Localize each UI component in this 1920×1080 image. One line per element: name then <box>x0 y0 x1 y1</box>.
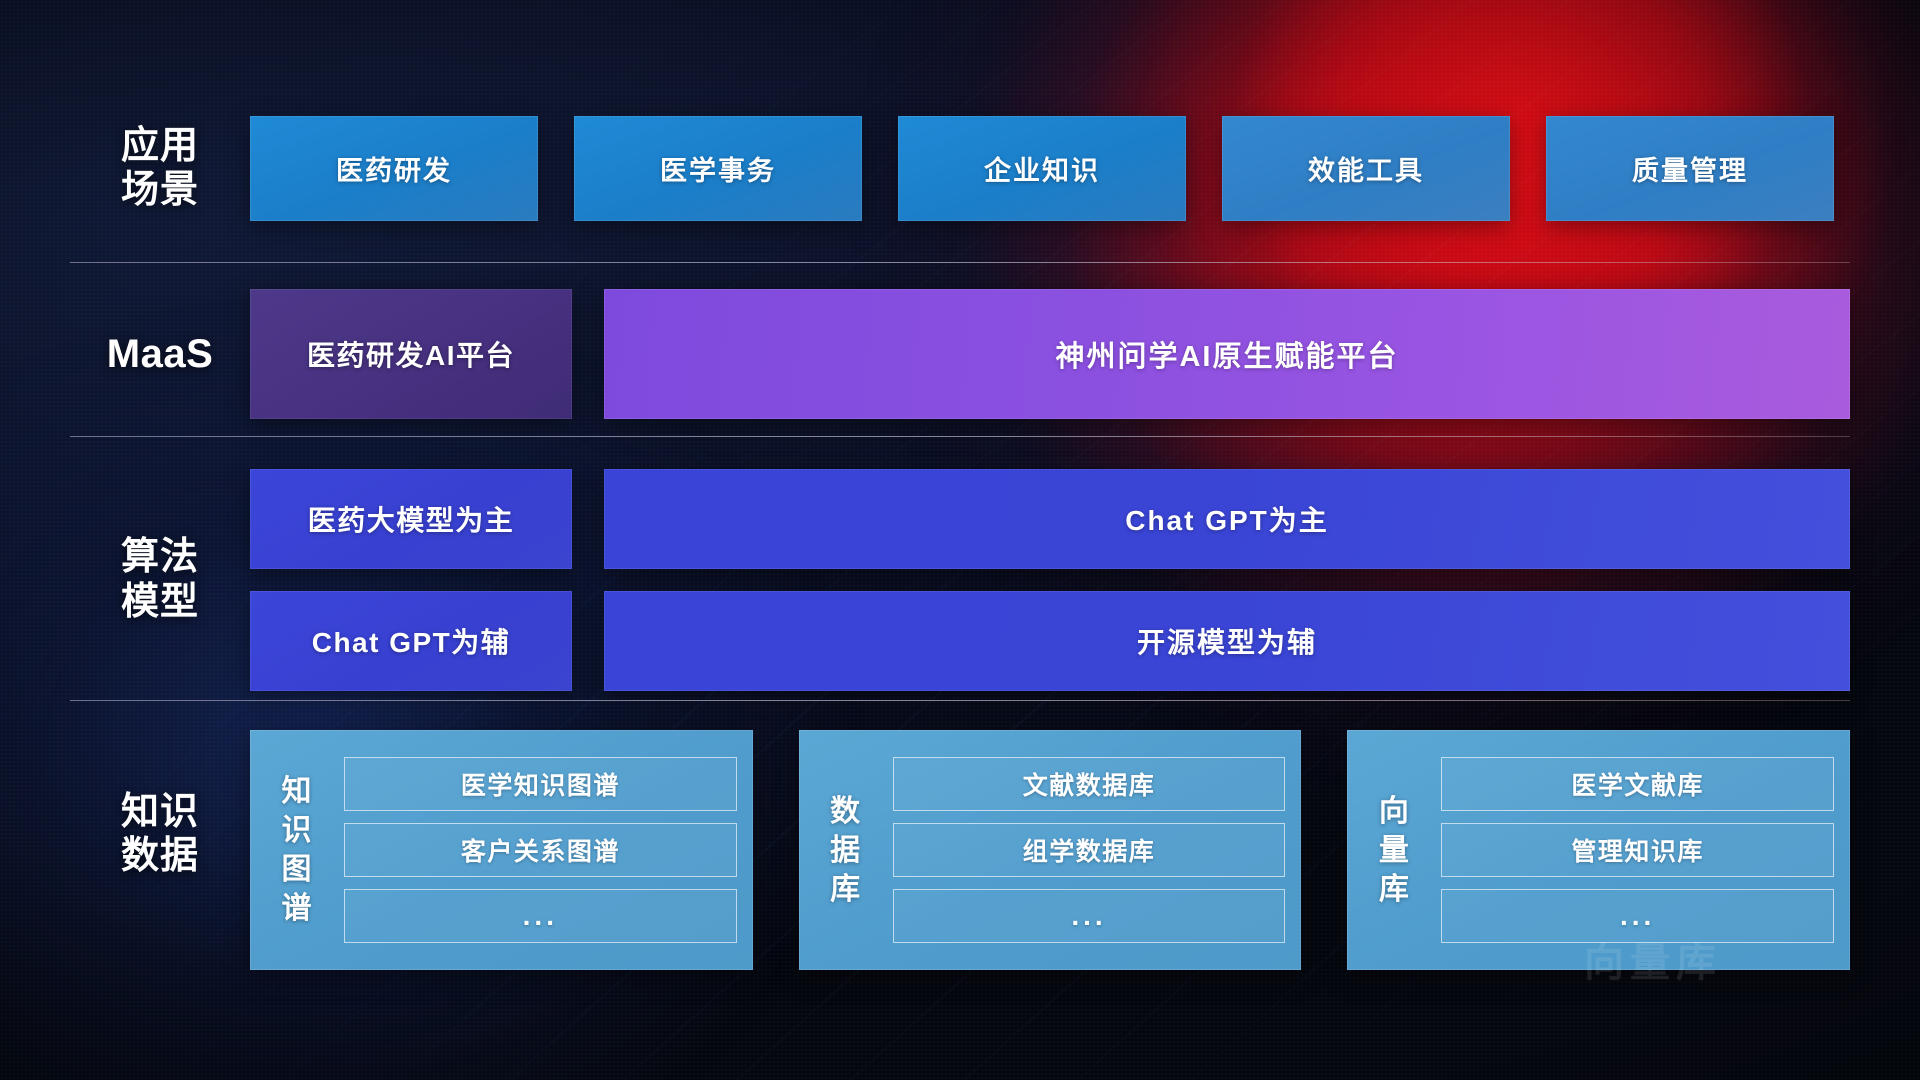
knowledge-item[interactable]: 客户关系图谱 <box>344 823 737 877</box>
knowledge-item[interactable]: 文献数据库 <box>893 757 1286 811</box>
vertical-label-char: 库 <box>1379 870 1410 909</box>
algorithm-card-label: Chat GPT为辅 <box>312 621 511 661</box>
knowledge-item[interactable]: 组学数据库 <box>893 823 1286 877</box>
row-label-algorithm-models: 算法 模型 <box>70 535 250 623</box>
vertical-label-char: 知 <box>282 772 313 811</box>
app-card-label: 质量管理 <box>1632 149 1748 188</box>
algorithm-line-secondary: Chat GPT为辅 开源模型为辅 <box>250 591 1850 691</box>
slide-canvas: 应用 场景 医药研发 医学事务 企业知识 效能工具 质量管理 <box>0 0 1920 1080</box>
algorithm-card-label: 医药大模型为主 <box>308 499 515 539</box>
vertical-label-char: 数 <box>830 792 861 831</box>
row-knowledge-data: 知识 数据 知识图谱 医学知识图谱 客户关系图谱 ... 数据库 文献数据库 组… <box>70 730 1850 978</box>
app-card-label: 医学事务 <box>660 149 776 188</box>
vertical-label-char: 识 <box>282 811 313 850</box>
row-maas: MaaS 医药研发AI平台 神州问学AI原生赋能平台 <box>70 288 1850 420</box>
knowledge-item[interactable]: 医学知识图谱 <box>344 757 737 811</box>
knowledge-card-vertical-label: 数据库 <box>809 792 883 909</box>
row-label-knowledge-data: 知识 数据 <box>70 790 250 878</box>
app-card-enterprise-knowledge[interactable]: 企业知识 <box>898 116 1186 221</box>
divider-algorithm-knowledge <box>70 700 1850 701</box>
knowledge-item-more[interactable]: ... <box>893 889 1286 943</box>
knowledge-item[interactable]: 管理知识库 <box>1441 823 1834 877</box>
app-card-label: 企业知识 <box>984 149 1100 188</box>
app-card-efficiency-tools[interactable]: 效能工具 <box>1222 116 1510 221</box>
maas-card-medicine-ai-platform[interactable]: 医药研发AI平台 <box>250 289 572 419</box>
maas-card-shenzhou-wenxue-platform[interactable]: 神州问学AI原生赋能平台 <box>604 289 1850 419</box>
knowledge-item-more[interactable]: ... <box>344 889 737 943</box>
vertical-label-char: 据 <box>830 831 861 870</box>
knowledge-card-vertical-label: 向量库 <box>1357 792 1431 909</box>
algorithm-bar-list: 医药大模型为主 Chat GPT为主 Chat GPT为辅 开源模型为辅 <box>250 469 1850 691</box>
vertical-label-char: 向 <box>1379 792 1410 831</box>
row-application-scenarios: 应用 场景 医药研发 医学事务 企业知识 效能工具 质量管理 <box>70 108 1850 228</box>
application-card-list: 医药研发 医学事务 企业知识 效能工具 质量管理 <box>250 116 1850 221</box>
vertical-label-char: 量 <box>1379 831 1410 870</box>
algorithm-card-label: 开源模型为辅 <box>1137 621 1317 661</box>
knowledge-item-list: 文献数据库 组学数据库 ... <box>893 757 1286 943</box>
app-card-label: 医药研发 <box>336 149 452 188</box>
knowledge-card-database[interactable]: 数据库 文献数据库 组学数据库 ... <box>799 730 1302 970</box>
vertical-label-char: 图 <box>282 850 313 889</box>
knowledge-card-vertical-label: 知识图谱 <box>260 772 334 928</box>
app-card-label: 效能工具 <box>1308 149 1424 188</box>
row-algorithm-models: 算法 模型 医药大模型为主 Chat GPT为主 Chat GPT为辅 开源模型… <box>70 462 1850 697</box>
algorithm-card-opensource-secondary[interactable]: 开源模型为辅 <box>604 591 1850 691</box>
divider-maas-algorithm <box>70 436 1850 437</box>
algorithm-card-chatgpt-primary[interactable]: Chat GPT为主 <box>604 469 1850 569</box>
algorithm-card-medicine-llm-primary[interactable]: 医药大模型为主 <box>250 469 572 569</box>
vertical-label-char: 库 <box>830 870 861 909</box>
knowledge-card-vector-store[interactable]: 向量库 医学文献库 管理知识库 ... <box>1347 730 1850 970</box>
app-card-quality-management[interactable]: 质量管理 <box>1546 116 1834 221</box>
app-card-medicine-rd[interactable]: 医药研发 <box>250 116 538 221</box>
maas-card-label: 神州问学AI原生赋能平台 <box>1055 333 1398 375</box>
architecture-diagram: 应用 场景 医药研发 医学事务 企业知识 效能工具 质量管理 <box>0 0 1920 1080</box>
knowledge-card-knowledge-graph[interactable]: 知识图谱 医学知识图谱 客户关系图谱 ... <box>250 730 753 970</box>
maas-card-label: 医药研发AI平台 <box>307 334 515 374</box>
algorithm-card-label: Chat GPT为主 <box>1125 499 1329 539</box>
row-label-maas: MaaS <box>70 331 250 377</box>
knowledge-item-list: 医学知识图谱 客户关系图谱 ... <box>344 757 737 943</box>
vertical-label-char: 谱 <box>282 889 313 928</box>
knowledge-item-more[interactable]: ... <box>1441 889 1834 943</box>
algorithm-line-primary: 医药大模型为主 Chat GPT为主 <box>250 469 1850 569</box>
knowledge-item[interactable]: 医学文献库 <box>1441 757 1834 811</box>
knowledge-item-list: 医学文献库 管理知识库 ... <box>1441 757 1834 943</box>
maas-bar-list: 医药研发AI平台 神州问学AI原生赋能平台 <box>250 289 1850 419</box>
row-label-application-scenarios: 应用 场景 <box>70 124 250 212</box>
divider-applications-maas <box>70 262 1850 263</box>
knowledge-card-list: 知识图谱 医学知识图谱 客户关系图谱 ... 数据库 文献数据库 组学数据库 .… <box>250 730 1850 970</box>
algorithm-card-chatgpt-secondary[interactable]: Chat GPT为辅 <box>250 591 572 691</box>
app-card-medical-affairs[interactable]: 医学事务 <box>574 116 862 221</box>
